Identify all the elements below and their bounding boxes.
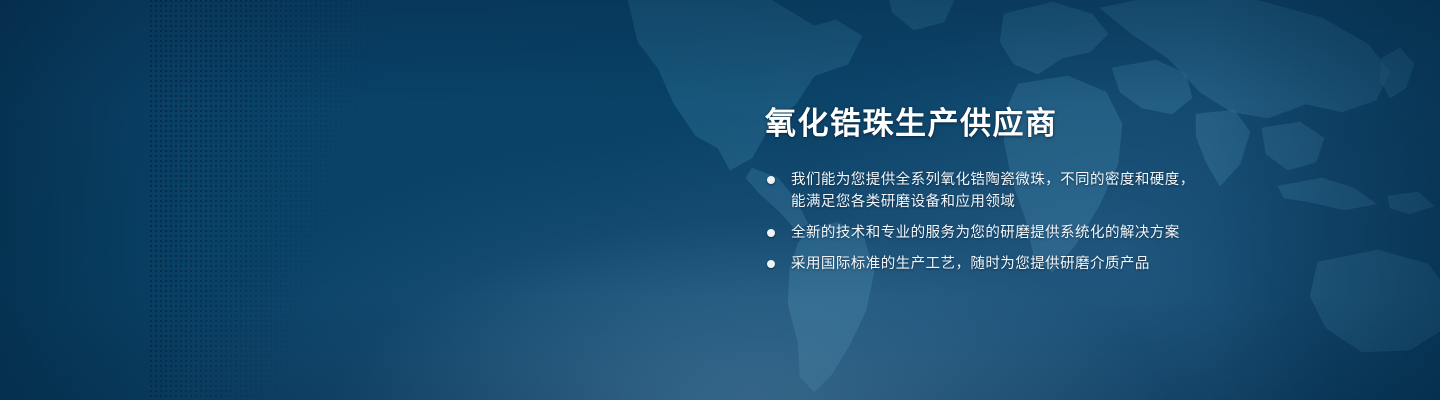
bullet-text-line1: 我们能为您提供全系列氧化锆陶瓷微珠，不同的密度和硬度，: [791, 172, 1195, 188]
list-item: 我们能为您提供全系列氧化锆陶瓷微珠，不同的密度和硬度， 能满足您各类研磨设备和应…: [765, 169, 1385, 213]
bullet-text-line1: 全新的技术和专业的服务为您的研磨提供系统化的解决方案: [791, 225, 1180, 241]
bullet-dot-icon: [767, 260, 775, 268]
bullet-text-line1: 采用国际标准的生产工艺，随时为您提供研磨介质产品: [791, 256, 1150, 272]
bullet-text-line2: 能满足您各类研磨设备和应用领域: [791, 191, 1385, 213]
banner-copy: 氧化锆珠生产供应商 我们能为您提供全系列氧化锆陶瓷微珠，不同的密度和硬度， 能满…: [765, 106, 1385, 275]
hero-banner: 氧化锆珠生产供应商 我们能为您提供全系列氧化锆陶瓷微珠，不同的密度和硬度， 能满…: [0, 0, 1440, 400]
zirconia-bead-cluster-photo: [150, 0, 730, 400]
bullet-dot-icon: [767, 176, 775, 184]
bullet-dot-icon: [767, 229, 775, 237]
list-item: 全新的技术和专业的服务为您的研磨提供系统化的解决方案: [765, 222, 1385, 244]
feature-bullet-list: 我们能为您提供全系列氧化锆陶瓷微珠，不同的密度和硬度， 能满足您各类研磨设备和应…: [765, 169, 1385, 275]
list-item: 采用国际标准的生产工艺，随时为您提供研磨介质产品: [765, 253, 1385, 275]
page-title: 氧化锆珠生产供应商: [765, 106, 1385, 143]
